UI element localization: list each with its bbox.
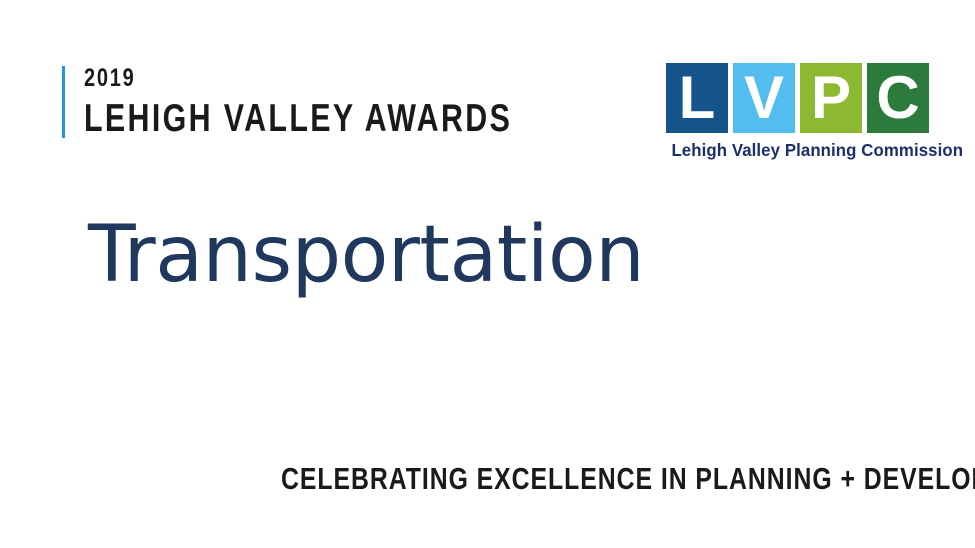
awards-title: LEHIGH VALLEY AWARDS (84, 99, 512, 138)
logo-square-v: V (733, 63, 795, 133)
lvpc-logo: L V P C Lehigh Valley Planning Commissio… (666, 63, 938, 161)
logo-letter-squares: L V P C (666, 63, 938, 133)
logo-square-c: C (867, 63, 929, 133)
award-year: 2019 (84, 66, 523, 91)
logo-caption: Lehigh Valley Planning Commission (671, 140, 932, 161)
page-title: Transportation (88, 213, 644, 299)
logo-square-l: L (666, 63, 728, 133)
slide-header: 2019 LEHIGH VALLEY AWARDS (62, 66, 633, 138)
footer-tagline: CELEBRATING EXCELLENCE IN PLANNING + DEV… (281, 463, 975, 494)
accent-bar (62, 66, 65, 138)
award-title-slide: 2019 LEHIGH VALLEY AWARDS L V P C Lehigh… (0, 0, 975, 548)
logo-square-p: P (800, 63, 862, 133)
header-text-group: 2019 LEHIGH VALLEY AWARDS (84, 66, 633, 138)
